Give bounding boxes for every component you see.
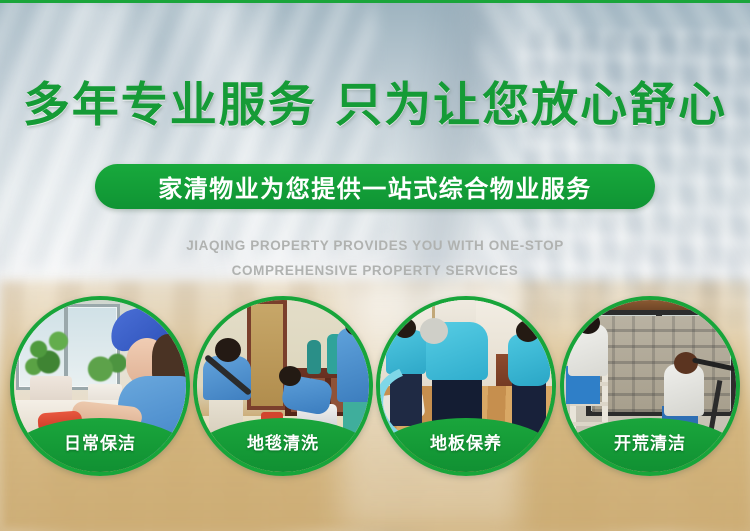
service-label-text: 地板保养 [430,429,502,454]
subtitle-english-line1: JIAQING PROPERTY PROVIDES YOU WITH ONE-S… [0,233,750,258]
subtitle-english: JIAQING PROPERTY PROVIDES YOU WITH ONE-S… [0,233,750,283]
service-circle-rough-cleaning[interactable]: 开荒清洁 [560,296,740,476]
tagline-pill: 家清物业为您提供一站式综合物业服务 [95,164,655,209]
service-circle-daily-cleaning[interactable]: 日常保洁 [10,296,190,476]
headline: 多年专业服务 只为让您放心舒心 [0,82,750,129]
service-label-text: 地毯清洗 [247,429,319,454]
background-diagonal-texture-left [0,0,388,271]
service-label-text: 开荒清洁 [614,429,686,454]
service-label-text: 日常保洁 [64,429,136,454]
top-accent-rule [0,0,750,3]
service-circle-carpet-cleaning[interactable]: 地毯清洗 [193,296,373,476]
subtitle-english-line2: COMPREHENSIVE PROPERTY SERVICES [0,258,750,283]
promo-banner: 多年专业服务 只为让您放心舒心 家清物业为您提供一站式综合物业服务 JIAQIN… [0,0,750,531]
tagline-text: 家清物业为您提供一站式综合物业服务 [158,169,592,204]
service-circle-floor-maintenance[interactable]: 地板保养 [376,296,556,476]
